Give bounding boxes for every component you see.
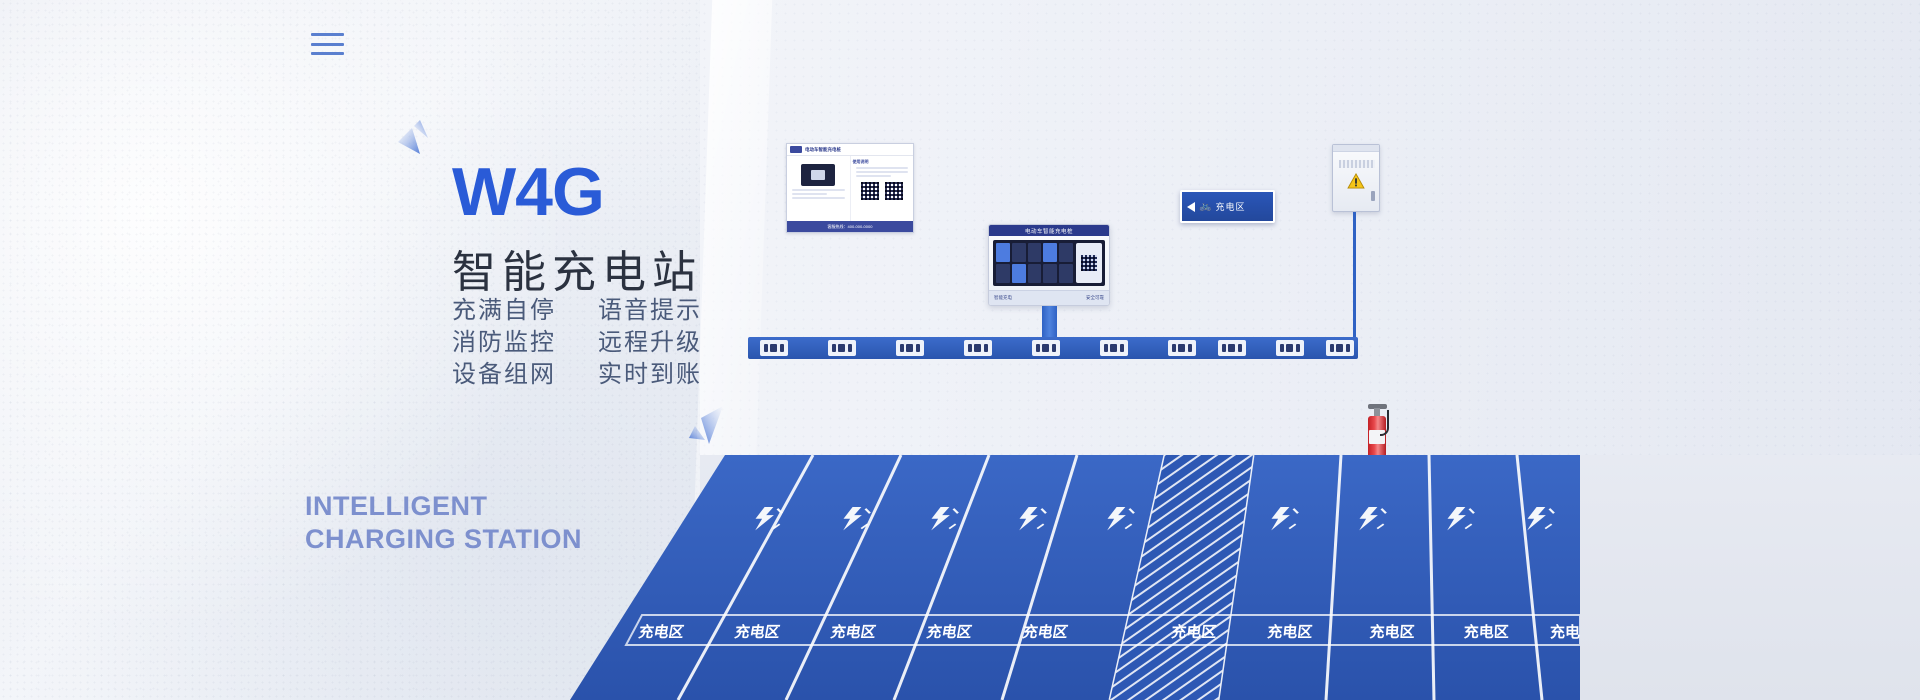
english-title-line1: INTELLIGENT (305, 490, 582, 523)
parking-slot-label: 充电区 (1021, 623, 1069, 641)
poster-footer-text: 客服热线：400-000-0000 (828, 224, 873, 230)
decorative-arrow-top (398, 120, 440, 168)
charging-port[interactable] (1059, 264, 1073, 283)
parking-slot-label: 充电区 (1266, 623, 1313, 641)
wall-outlet[interactable] (1168, 340, 1196, 356)
parking-slot-label: 充电区 (1464, 623, 1510, 641)
feature-item: 消防监控 (452, 327, 570, 359)
poster-logo-icon (790, 146, 802, 153)
feature-row: 充满自停 语音提示 (452, 295, 702, 327)
wall-outlet[interactable] (760, 340, 788, 356)
charging-port[interactable] (1059, 243, 1073, 262)
pile-brand-right: 安全可靠 (1086, 295, 1104, 301)
alipay-qr-icon (885, 182, 903, 200)
feature-item: 设备组网 (452, 359, 570, 391)
scooter-icon: 🚲 (1199, 202, 1211, 212)
poster-title: 电动车智能充电桩 (805, 147, 841, 153)
wall-outlet[interactable] (964, 340, 992, 356)
poster-left-column (787, 156, 851, 221)
pile-brand-left: 智能充电 (994, 295, 1012, 301)
cabinet-latch (1371, 191, 1375, 201)
charging-pile-footer: 智能充电 安全可靠 (989, 290, 1109, 305)
parking-slot-label: 充电区 (733, 623, 781, 641)
hamburger-bar-1 (311, 33, 344, 36)
poster-text-line (856, 171, 909, 173)
wechat-qr-icon (861, 182, 879, 200)
hamburger-bar-2 (311, 43, 344, 46)
feature-item: 语音提示 (598, 295, 702, 327)
feature-item: 实时到账 (598, 359, 702, 391)
charging-port[interactable] (1043, 264, 1057, 283)
poster-section-title: 使用说明 (853, 159, 912, 165)
poster-header: 电动车智能充电桩 (787, 144, 913, 156)
hamburger-bar-3 (311, 52, 344, 55)
qr-code-icon (1081, 255, 1097, 271)
charging-pile-unit[interactable]: 电动车智能充电桩 智能充电 安全可靠 (988, 224, 1110, 306)
parking-floor: 充电区 充电区 充电区 充电区 充电区 充电区 充电区 充电区 充电区 充电区 (570, 455, 1580, 700)
wall-outlet[interactable] (1100, 340, 1128, 356)
wall-outlet[interactable] (1032, 340, 1060, 356)
page-subtitle: 智能充电站 (452, 236, 772, 300)
arrow-left-icon (1187, 202, 1195, 212)
feature-item: 远程升级 (598, 327, 702, 359)
poster-text-line (792, 193, 827, 195)
parking-slot-label: 充电区 (829, 623, 877, 641)
poster-text-line (792, 197, 845, 199)
poster-text-line (856, 175, 891, 177)
cabinet-vent (1339, 160, 1375, 168)
direction-sign-label: 充电区 (1215, 200, 1245, 213)
poster-text-line (856, 167, 909, 169)
feature-item: 充满自停 (452, 295, 570, 327)
hamburger-menu-icon[interactable] (311, 33, 344, 55)
wall-outlet[interactable] (896, 340, 924, 356)
charging-port-grid (996, 243, 1073, 283)
charging-port[interactable] (996, 243, 1010, 262)
headline-block: W4G 智能充电站 (452, 158, 772, 300)
parking-slot-label: 充电区 (1550, 623, 1580, 641)
parking-slot-label: 充电区 (1170, 623, 1217, 641)
wall-outlet[interactable] (1326, 340, 1354, 356)
feature-row: 消防监控 远程升级 (452, 327, 702, 359)
wall-outlet-rail (748, 337, 1358, 359)
english-title-line2: CHARGING STATION (305, 523, 582, 556)
charging-pile-qr-screen[interactable] (1076, 243, 1102, 283)
charging-pile-header: 电动车智能充电桩 (989, 225, 1109, 236)
charging-port[interactable] (1012, 243, 1026, 262)
poster-device-illustration (801, 164, 835, 186)
charging-pile-title: 电动车智能充电桩 (1025, 227, 1073, 235)
feature-list: 充满自停 语音提示 消防监控 远程升级 设备组网 实时到账 (452, 295, 702, 391)
wall-outlet[interactable] (1276, 340, 1304, 356)
poster-qr-row (853, 179, 912, 200)
warning-icon (1347, 173, 1365, 189)
decorative-arrow-bottom (683, 400, 725, 446)
page-title: W4G (452, 158, 772, 226)
poster-body: 使用说明 (787, 156, 913, 221)
direction-sign: 🚲 充电区 (1180, 190, 1275, 223)
wall-outlet[interactable] (1218, 340, 1246, 356)
english-title: INTELLIGENT CHARGING STATION (305, 490, 582, 556)
charging-port[interactable] (1028, 264, 1042, 283)
charging-port[interactable] (1028, 243, 1042, 262)
wall-poster: 电动车智能充电桩 使用说明 客服热线：400-000-0000 (786, 143, 914, 233)
charging-port[interactable] (996, 264, 1010, 283)
charging-pile-face (993, 240, 1105, 286)
cabinet-top-edge (1333, 145, 1379, 152)
feature-row: 设备组网 实时到账 (452, 359, 702, 391)
power-cable-vertical (1353, 212, 1356, 349)
poster-right-column: 使用说明 (851, 156, 914, 221)
parking-slot-label: 充电区 (637, 623, 685, 641)
parking-slot-label: 充电区 (925, 623, 973, 641)
charging-port[interactable] (1012, 264, 1026, 283)
parking-slot-label: 充电区 (1369, 623, 1415, 641)
banner-stage: W4G 智能充电站 充满自停 语音提示 消防监控 远程升级 设备组网 实时到账 … (0, 0, 1920, 700)
fire-extinguisher (1366, 400, 1388, 462)
charging-port[interactable] (1043, 243, 1057, 262)
extinguisher-hose (1380, 410, 1389, 436)
wall-outlet[interactable] (828, 340, 856, 356)
electrical-cabinet (1332, 144, 1380, 212)
poster-text-line (792, 189, 845, 191)
poster-footer: 客服热线：400-000-0000 (787, 221, 913, 232)
